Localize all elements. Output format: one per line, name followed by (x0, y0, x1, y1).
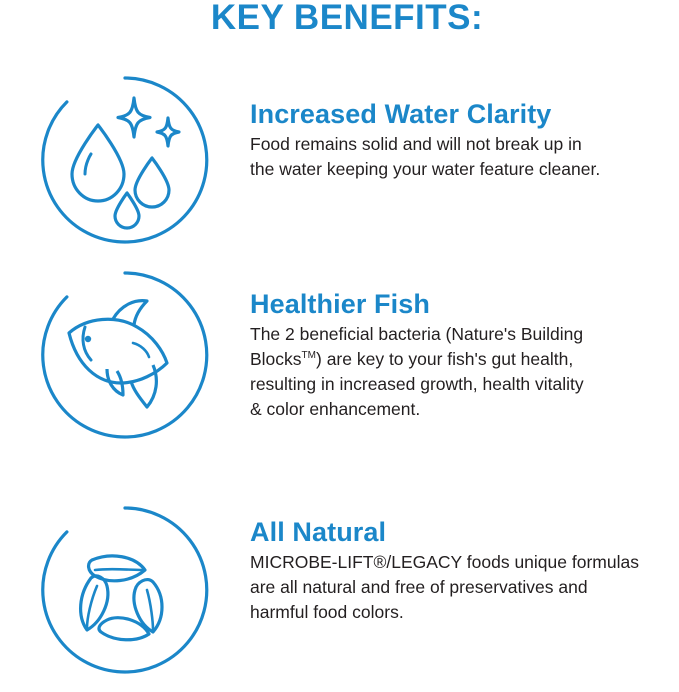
benefit-body: Food remains solid and will not break up… (250, 132, 670, 182)
water-drop-sparkle-icon (35, 70, 215, 250)
fish-icon (35, 265, 215, 445)
benefit-heading: Increased Water Clarity (250, 100, 671, 129)
benefit-body-line: the water keeping your water feature cle… (250, 159, 600, 179)
benefit-text: Increased Water Clarity Food remains sol… (250, 70, 679, 182)
key-benefits-page: KEY BENEFITS: Incre (0, 0, 679, 692)
benefit-body-line: The 2 beneficial bacteria (Nature's Buil… (250, 324, 583, 344)
benefit-body-line: are all natural and free of preservative… (250, 577, 588, 597)
benefit-body-line: MICROBE-LIFT®/LEGACY foods unique formul… (250, 552, 639, 572)
benefit-body: The 2 beneficial bacteria (Nature's Buil… (250, 322, 670, 421)
benefit-heading: All Natural (250, 518, 671, 547)
benefit-item-healthier-fish: Healthier Fish The 2 beneficial bacteria… (0, 265, 679, 445)
benefit-body-line: harmful food colors. (250, 602, 404, 622)
leaves-recycle-icon (35, 500, 215, 680)
benefit-heading: Healthier Fish (250, 290, 671, 319)
benefit-body-line: Blocks (250, 349, 302, 369)
icon-container (0, 265, 250, 445)
page-title: KEY BENEFITS: (0, 0, 679, 38)
trademark-superscript: TM (302, 350, 316, 361)
icon-container (0, 70, 250, 250)
benefit-body-line: Food remains solid and will not break up… (250, 134, 582, 154)
benefit-body-line: ) are key to your fish's gut health, (316, 349, 573, 369)
benefit-body-line: resulting in increased growth, health vi… (250, 374, 584, 394)
benefit-item-water-clarity: Increased Water Clarity Food remains sol… (0, 70, 679, 250)
benefit-body-line: & color enhancement. (250, 399, 420, 419)
benefit-item-all-natural: All Natural MICROBE-LIFT®/LEGACY foods u… (0, 500, 679, 680)
benefit-body: MICROBE-LIFT®/LEGACY foods unique formul… (250, 550, 670, 625)
benefit-text: All Natural MICROBE-LIFT®/LEGACY foods u… (250, 500, 679, 625)
benefit-text: Healthier Fish The 2 beneficial bacteria… (250, 265, 679, 422)
icon-container (0, 500, 250, 680)
